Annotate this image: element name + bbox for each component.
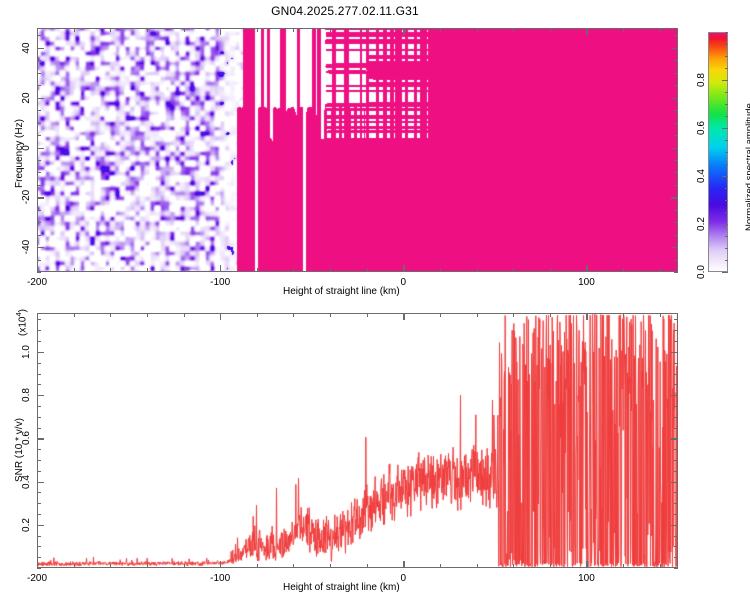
tick-mark bbox=[671, 438, 678, 439]
figure-title: GN04.2025.277.02.11.G31 bbox=[0, 4, 690, 18]
tick-mark bbox=[674, 235, 678, 236]
snr-multiplier-exponent: 4 bbox=[14, 312, 23, 316]
tick-mark bbox=[722, 80, 728, 81]
tick-mark bbox=[477, 564, 478, 568]
colorbar-tick-label: 0.2 bbox=[696, 217, 707, 231]
tick-mark bbox=[586, 561, 587, 568]
tick-mark bbox=[37, 492, 41, 493]
tick-mark bbox=[722, 272, 728, 273]
tick-mark bbox=[37, 135, 41, 136]
tick-mark bbox=[671, 352, 678, 353]
tick-mark bbox=[37, 341, 41, 342]
tick-mark bbox=[725, 200, 728, 201]
tick-mark bbox=[674, 85, 678, 86]
tick-mark bbox=[550, 268, 551, 272]
tick-mark bbox=[37, 374, 41, 375]
tick-mark bbox=[147, 268, 148, 272]
x-tick-label: 100 bbox=[578, 277, 595, 288]
tick-mark bbox=[550, 313, 551, 317]
tick-mark bbox=[110, 564, 111, 568]
spectrogram-x-axis-title: Height of straight line (km) bbox=[283, 286, 400, 297]
tick-mark bbox=[293, 313, 294, 317]
tick-mark bbox=[37, 185, 41, 186]
tick-mark bbox=[74, 28, 75, 32]
tick-mark bbox=[623, 268, 624, 272]
tick-mark bbox=[330, 564, 331, 568]
tick-mark bbox=[660, 28, 661, 32]
tick-mark bbox=[37, 48, 44, 49]
tick-mark bbox=[674, 406, 678, 407]
y-tick-label: 1.0 bbox=[21, 345, 32, 359]
y-tick-label: 0.2 bbox=[21, 518, 32, 532]
tick-mark bbox=[147, 564, 148, 568]
tick-mark bbox=[725, 164, 728, 165]
snr-multiplier-text: (x10 bbox=[17, 317, 28, 336]
spectrogram-y-axis-title: Frequency (Hz) bbox=[14, 119, 25, 188]
tick-mark bbox=[37, 406, 41, 407]
tick-mark bbox=[674, 319, 678, 320]
tick-mark bbox=[674, 417, 678, 418]
snr-multiplier-close: ) bbox=[17, 309, 28, 312]
tick-mark bbox=[725, 248, 728, 249]
tick-mark bbox=[220, 28, 221, 35]
tick-mark bbox=[674, 341, 678, 342]
tick-mark bbox=[440, 28, 441, 32]
tick-mark bbox=[184, 313, 185, 317]
tick-mark bbox=[37, 417, 41, 418]
colorbar-axis-title: Normalized spectral amplitude bbox=[744, 103, 750, 231]
tick-mark bbox=[37, 123, 41, 124]
tick-mark bbox=[671, 98, 678, 99]
tick-mark bbox=[74, 268, 75, 272]
tick-mark bbox=[513, 28, 514, 32]
tick-mark bbox=[440, 313, 441, 317]
snr-plot-area bbox=[37, 313, 678, 568]
tick-mark bbox=[671, 148, 678, 149]
tick-mark bbox=[37, 60, 41, 61]
tick-mark bbox=[722, 128, 728, 129]
colorbar-tick-label: 0.0 bbox=[696, 265, 707, 279]
tick-mark bbox=[37, 172, 41, 173]
tick-mark bbox=[37, 557, 41, 558]
tick-mark bbox=[37, 438, 44, 439]
tick-mark bbox=[37, 546, 41, 547]
tick-mark bbox=[37, 561, 38, 568]
tick-mark bbox=[293, 28, 294, 32]
tick-mark bbox=[293, 564, 294, 568]
tick-mark bbox=[37, 395, 44, 396]
tick-mark bbox=[330, 313, 331, 317]
tick-mark bbox=[37, 35, 41, 36]
tick-mark bbox=[674, 568, 678, 569]
y-tick-label: 40 bbox=[21, 42, 32, 53]
tick-mark bbox=[367, 564, 368, 568]
tick-mark bbox=[37, 384, 41, 385]
colorbar-tick-label: 0.4 bbox=[696, 169, 707, 183]
tick-mark bbox=[586, 313, 587, 320]
tick-mark bbox=[257, 268, 258, 272]
tick-mark bbox=[674, 260, 678, 261]
tick-mark bbox=[671, 48, 678, 49]
tick-mark bbox=[367, 28, 368, 32]
tick-mark bbox=[37, 330, 41, 331]
tick-mark bbox=[623, 564, 624, 568]
tick-mark bbox=[660, 564, 661, 568]
tick-mark bbox=[403, 28, 404, 35]
tick-mark bbox=[74, 564, 75, 568]
tick-mark bbox=[513, 564, 514, 568]
tick-mark bbox=[674, 374, 678, 375]
tick-mark bbox=[37, 197, 44, 198]
tick-mark bbox=[110, 313, 111, 317]
x-tick-label: 0 bbox=[401, 277, 407, 288]
y-tick-label: 0.8 bbox=[21, 388, 32, 402]
tick-mark bbox=[725, 32, 728, 33]
tick-mark bbox=[725, 56, 728, 57]
tick-mark bbox=[674, 546, 678, 547]
tick-mark bbox=[37, 514, 41, 515]
tick-mark bbox=[367, 268, 368, 272]
tick-mark bbox=[220, 313, 221, 320]
tick-mark bbox=[513, 268, 514, 272]
tick-mark bbox=[586, 28, 587, 35]
snr-x-axis-title: Height of straight line (km) bbox=[283, 582, 400, 593]
x-tick-label: -200 bbox=[27, 277, 47, 288]
colorbar-tick-label: 0.6 bbox=[696, 121, 707, 135]
tick-mark bbox=[550, 564, 551, 568]
tick-mark bbox=[37, 503, 41, 504]
tick-mark bbox=[37, 260, 41, 261]
tick-mark bbox=[674, 384, 678, 385]
tick-mark bbox=[477, 313, 478, 317]
x-tick-label: 100 bbox=[578, 573, 595, 584]
tick-mark bbox=[722, 176, 728, 177]
tick-mark bbox=[367, 313, 368, 317]
tick-mark bbox=[477, 28, 478, 32]
tick-mark bbox=[184, 28, 185, 32]
tick-mark bbox=[477, 268, 478, 272]
snr-y-axis-title: SNR (10 * v/v) bbox=[14, 418, 25, 482]
tick-mark bbox=[671, 482, 678, 483]
tick-mark bbox=[725, 44, 728, 45]
tick-mark bbox=[184, 268, 185, 272]
tick-mark bbox=[674, 160, 678, 161]
spectrogram-image bbox=[37, 28, 678, 272]
tick-mark bbox=[674, 35, 678, 36]
tick-mark bbox=[725, 152, 728, 153]
tick-mark bbox=[674, 210, 678, 211]
x-tick-label: -100 bbox=[210, 277, 230, 288]
tick-mark bbox=[674, 536, 678, 537]
x-tick-label: 0 bbox=[401, 573, 407, 584]
tick-mark bbox=[674, 460, 678, 461]
tick-mark bbox=[671, 395, 678, 396]
tick-mark bbox=[671, 197, 678, 198]
tick-mark bbox=[37, 428, 41, 429]
tick-mark bbox=[674, 222, 678, 223]
tick-mark bbox=[725, 188, 728, 189]
tick-mark bbox=[37, 148, 44, 149]
tick-mark bbox=[674, 135, 678, 136]
tick-mark bbox=[403, 313, 404, 320]
tick-mark bbox=[257, 313, 258, 317]
tick-mark bbox=[74, 313, 75, 317]
tick-mark bbox=[37, 536, 41, 537]
tick-mark bbox=[184, 564, 185, 568]
spectrogram-plot-area bbox=[37, 28, 678, 272]
tick-mark bbox=[37, 363, 41, 364]
tick-mark bbox=[674, 185, 678, 186]
tick-mark bbox=[37, 98, 44, 99]
tick-mark bbox=[37, 110, 41, 111]
tick-mark bbox=[725, 68, 728, 69]
snr-trace bbox=[37, 313, 678, 568]
tick-mark bbox=[725, 116, 728, 117]
tick-mark bbox=[403, 265, 404, 272]
colorbar-tick-label: 0.8 bbox=[696, 73, 707, 87]
tick-mark bbox=[257, 28, 258, 32]
tick-mark bbox=[674, 514, 678, 515]
x-tick-label: -100 bbox=[210, 573, 230, 584]
y-tick-label: -20 bbox=[21, 190, 32, 204]
tick-mark bbox=[37, 471, 41, 472]
tick-mark bbox=[674, 449, 678, 450]
tick-mark bbox=[37, 460, 41, 461]
tick-mark bbox=[725, 104, 728, 105]
tick-mark bbox=[37, 160, 41, 161]
tick-mark bbox=[147, 28, 148, 32]
tick-mark bbox=[674, 492, 678, 493]
tick-mark bbox=[674, 60, 678, 61]
tick-mark bbox=[722, 224, 728, 225]
tick-mark bbox=[674, 123, 678, 124]
tick-mark bbox=[623, 313, 624, 317]
tick-mark bbox=[293, 268, 294, 272]
tick-mark bbox=[725, 260, 728, 261]
tick-mark bbox=[37, 235, 41, 236]
y-tick-label: 20 bbox=[21, 92, 32, 103]
tick-mark bbox=[330, 28, 331, 32]
tick-mark bbox=[674, 73, 678, 74]
tick-mark bbox=[330, 268, 331, 272]
tick-mark bbox=[37, 525, 44, 526]
y-tick-label: -40 bbox=[21, 240, 32, 254]
tick-mark bbox=[37, 85, 41, 86]
tick-mark bbox=[674, 110, 678, 111]
tick-mark bbox=[37, 210, 41, 211]
tick-mark bbox=[674, 471, 678, 472]
tick-mark bbox=[110, 268, 111, 272]
figure-root: GN04.2025.277.02.11.G31 -200-1000100 402… bbox=[0, 0, 750, 600]
tick-mark bbox=[220, 561, 221, 568]
tick-mark bbox=[403, 561, 404, 568]
tick-mark bbox=[671, 525, 678, 526]
tick-mark bbox=[660, 268, 661, 272]
tick-mark bbox=[550, 28, 551, 32]
tick-mark bbox=[671, 247, 678, 248]
tick-mark bbox=[674, 557, 678, 558]
tick-mark bbox=[37, 352, 44, 353]
tick-mark bbox=[37, 482, 44, 483]
tick-mark bbox=[440, 564, 441, 568]
tick-mark bbox=[674, 428, 678, 429]
tick-mark bbox=[725, 140, 728, 141]
tick-mark bbox=[110, 28, 111, 32]
x-tick-label: -200 bbox=[27, 573, 47, 584]
tick-mark bbox=[674, 172, 678, 173]
tick-mark bbox=[725, 92, 728, 93]
tick-mark bbox=[257, 564, 258, 568]
tick-mark bbox=[37, 247, 44, 248]
tick-mark bbox=[37, 272, 41, 273]
tick-mark bbox=[725, 212, 728, 213]
tick-mark bbox=[725, 236, 728, 237]
tick-mark bbox=[674, 503, 678, 504]
tick-mark bbox=[37, 73, 41, 74]
tick-mark bbox=[147, 313, 148, 317]
tick-mark bbox=[37, 568, 41, 569]
tick-mark bbox=[674, 272, 678, 273]
tick-mark bbox=[623, 28, 624, 32]
snr-y-axis-multiplier: (x104) bbox=[14, 309, 28, 336]
tick-mark bbox=[440, 268, 441, 272]
tick-mark bbox=[586, 265, 587, 272]
tick-mark bbox=[674, 330, 678, 331]
tick-mark bbox=[513, 313, 514, 317]
tick-mark bbox=[674, 363, 678, 364]
tick-mark bbox=[37, 319, 41, 320]
tick-mark bbox=[37, 449, 41, 450]
tick-mark bbox=[37, 28, 38, 35]
tick-mark bbox=[37, 222, 41, 223]
tick-mark bbox=[660, 313, 661, 317]
tick-mark bbox=[220, 265, 221, 272]
tick-mark bbox=[37, 265, 38, 272]
